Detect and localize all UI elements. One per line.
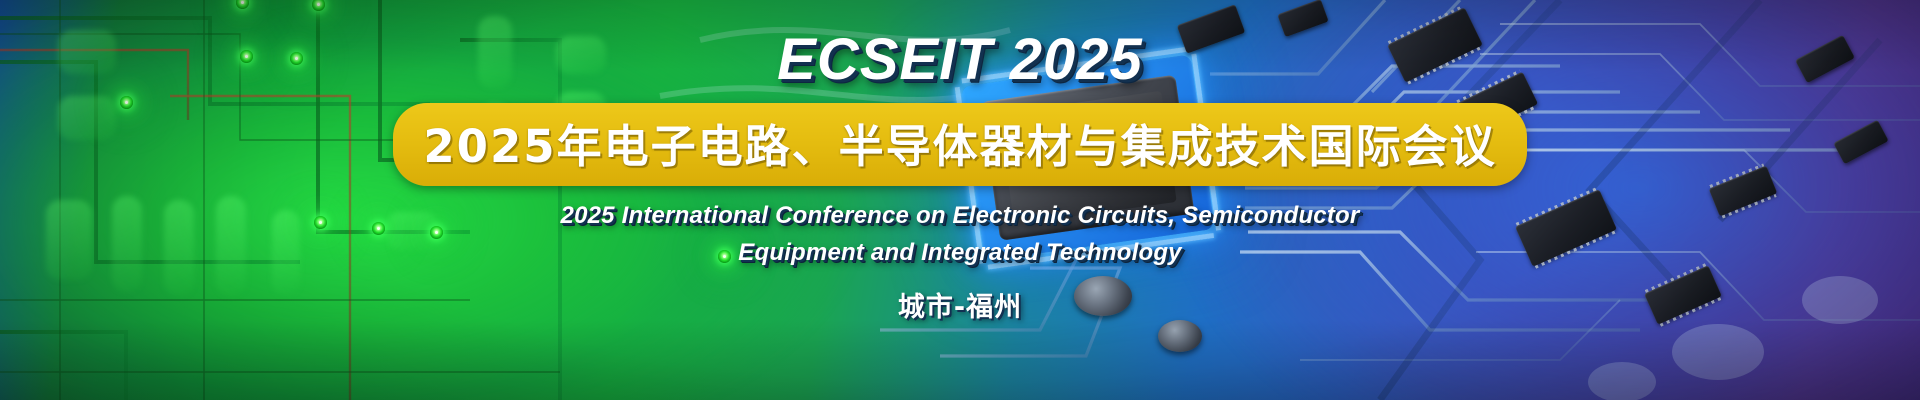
english-subtitle-line-2: Equipment and Integrated Technology (738, 239, 1181, 267)
conference-acronym-title: ECSEIT 2025 (777, 26, 1143, 93)
conference-city: 城市-福州 (898, 285, 1022, 324)
conference-banner: ECSEIT 2025 2025年电子电路、半导体器材与集成技术国际会议 202… (0, 0, 1920, 400)
english-subtitle-line-1: 2025 International Conference on Electro… (561, 202, 1360, 230)
chinese-conference-title: 2025年电子电路、半导体器材与集成技术国际会议 (423, 110, 1496, 175)
banner-content: ECSEIT 2025 2025年电子电路、半导体器材与集成技术国际会议 202… (0, 0, 1920, 400)
chinese-title-plate: 2025年电子电路、半导体器材与集成技术国际会议 (393, 103, 1526, 186)
